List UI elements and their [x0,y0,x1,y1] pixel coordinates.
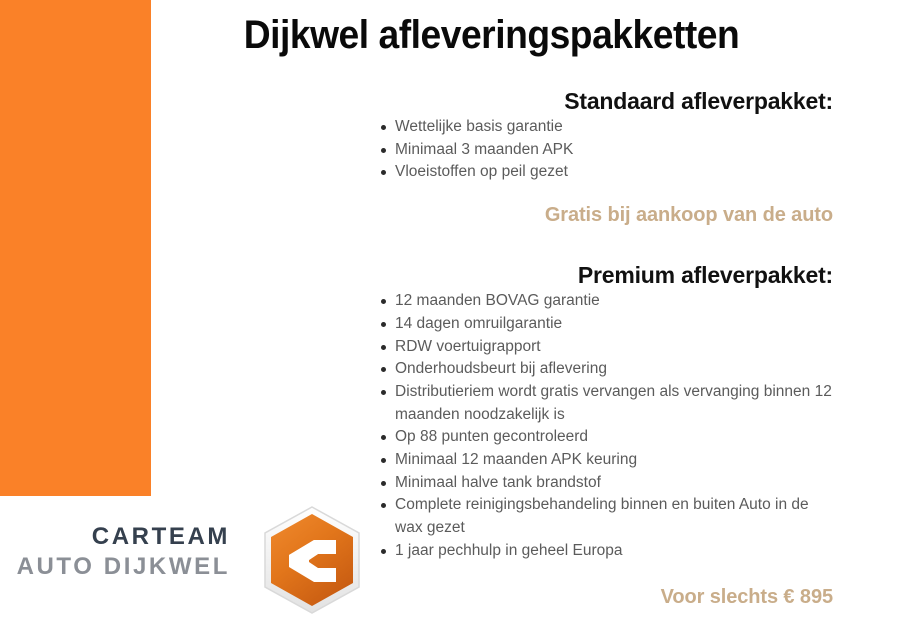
brand-logo-lockup: CARTEAM AUTO DIJKWEL [0,510,370,600]
standard-package-section: Standaard afleverpakket: Wettelijke basi… [370,86,833,228]
brand-name-carteam: CARTEAM [0,522,230,552]
list-item: Complete reinigingsbehandeling binnen en… [370,494,833,539]
standard-package-tagline: Gratis bij aankoop van de auto [370,202,833,228]
premium-package-heading: Premium afleverpakket: [370,260,833,290]
list-item: Minimaal halve tank brandstof [370,472,833,495]
list-item: RDW voertuigrapport [370,336,833,359]
list-item: Distributieriem wordt gratis vervangen a… [370,381,833,426]
brand-wordmark: CARTEAM AUTO DIJKWEL [0,522,230,582]
list-item: Wettelijke basis garantie [370,116,833,139]
standard-package-heading: Standaard afleverpakket: [370,86,833,116]
list-item: 14 dagen omruilgarantie [370,313,833,336]
list-item: 12 maanden BOVAG garantie [370,290,833,313]
list-item: Onderhoudsbeurt bij aflevering [370,358,833,381]
premium-price-line: Voor slechts € 895 [370,584,833,610]
list-item: 1 jaar pechhulp in geheel Europa [370,540,833,563]
list-item: Vloeistoffen op peil gezet [370,161,833,184]
page-title: Dijkwel afleveringspakketten [174,10,809,60]
list-item: Op 88 punten gecontroleerd [370,426,833,449]
packages-content: Standaard afleverpakket: Wettelijke basi… [370,86,833,563]
premium-package-list: 12 maanden BOVAG garantie 14 dagen omrui… [370,290,833,562]
standard-package-list: Wettelijke basis garantie Minimaal 3 maa… [370,116,833,184]
brand-name-auto-dijkwel: AUTO DIJKWEL [0,552,230,582]
carteam-hexagon-c-logo-icon [256,504,368,616]
list-item: Minimaal 12 maanden APK keuring [370,449,833,472]
list-item: Minimaal 3 maanden APK [370,139,833,162]
orange-accent-bar [0,0,151,496]
premium-package-section: Premium afleverpakket: 12 maanden BOVAG … [370,260,833,562]
